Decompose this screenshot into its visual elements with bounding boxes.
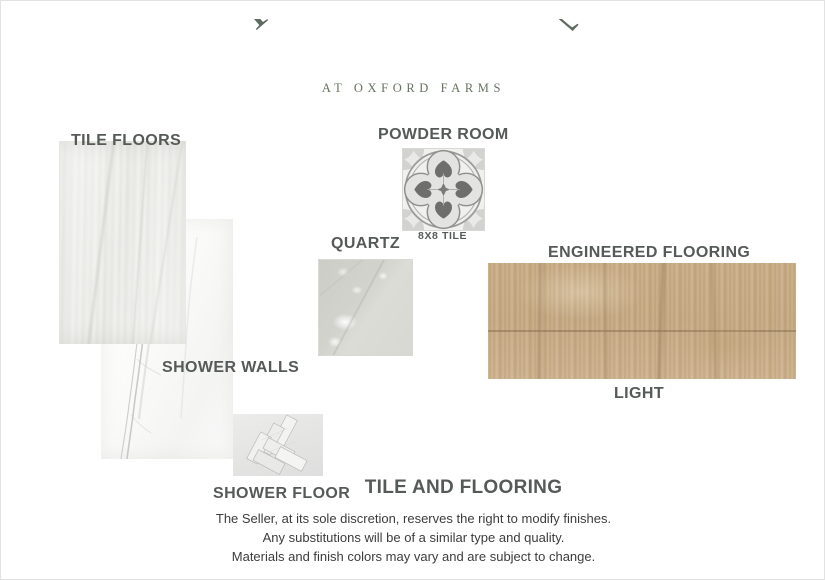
- disclaimer-line: Any substitutions will be of a similar t…: [1, 528, 825, 547]
- label-engineered-flooring: ENGINEERED FLOORING: [548, 244, 750, 262]
- encaustic-tile-pattern-graphic: [403, 149, 484, 230]
- swatch-quartz: [318, 259, 413, 356]
- footer-disclaimer: The Seller, at its sole discretion, rese…: [1, 509, 825, 566]
- label-quartz: QUARTZ: [331, 235, 400, 253]
- brand-title-arched: THE RESERVE: [204, 19, 624, 89]
- swatch-tile-floors: [59, 141, 186, 344]
- brand-logo: THE RESERVE AT OXFORD FARMS: [1, 19, 825, 99]
- swatch-shower-floor: [233, 414, 323, 476]
- brand-title-text: THE RESERVE: [221, 19, 606, 43]
- caption-powder-room-size: 8X8 TILE: [418, 230, 467, 242]
- disclaimer-line: The Seller, at its sole discretion, rese…: [1, 509, 825, 528]
- finish-selection-board: THE RESERVE AT OXFORD FARMS TILE FLOORS …: [0, 0, 825, 580]
- herringbone-mosaic-graphic: [233, 414, 323, 476]
- svg-text:THE RESERVE: THE RESERVE: [221, 19, 606, 43]
- swatch-powder-room-tile: [402, 148, 485, 231]
- brand-subtitle: AT OXFORD FARMS: [1, 81, 825, 96]
- footer-block: TILE AND FLOORING The Seller, at its sol…: [1, 477, 825, 566]
- label-powder-room: POWDER ROOM: [378, 126, 509, 144]
- footer-title: TILE AND FLOORING: [101, 477, 825, 499]
- swatch-engineered-flooring: [488, 263, 796, 379]
- label-shower-walls: SHOWER WALLS: [162, 359, 299, 377]
- caption-engineered-flooring-shade: LIGHT: [614, 385, 664, 403]
- disclaimer-line: Materials and finish colors may vary and…: [1, 547, 825, 566]
- label-tile-floors: TILE FLOORS: [71, 132, 181, 150]
